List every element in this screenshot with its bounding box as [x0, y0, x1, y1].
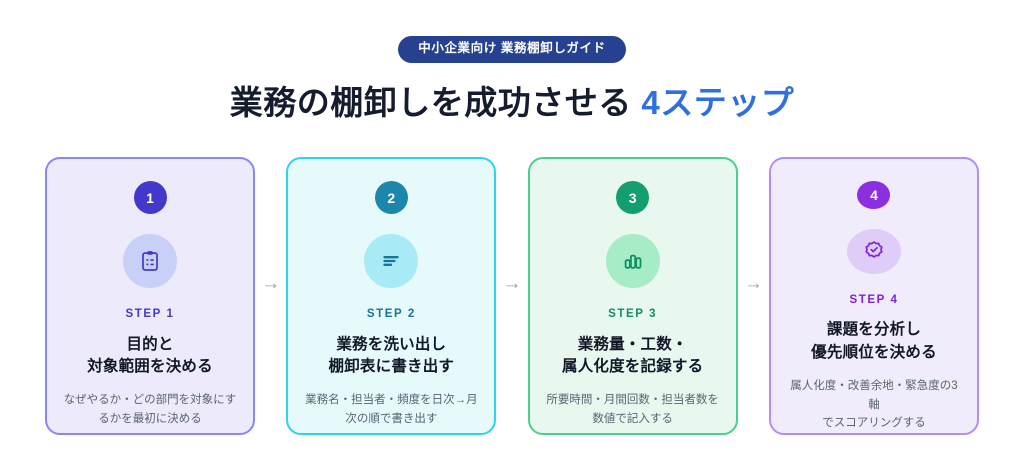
step-title-2-line1: 業務を洗い出し — [329, 334, 455, 356]
step-label-3: STEP 3 — [608, 309, 657, 321]
step-desc-1-line2: るかを最初に決める — [64, 410, 237, 429]
step-title-3-line1: 業務量・工数・ — [562, 334, 703, 356]
step-card-1[interactable]: 1 STEP 1 目的と 対象範囲を決める なぜやるか・どの部門を対象にす るか… — [45, 157, 255, 435]
page-title-accent: 4ステップ — [641, 84, 794, 121]
step-number-badge-2: 2 — [375, 181, 408, 214]
step-number-badge-3: 3 — [616, 181, 649, 214]
connector-arrow-1: → — [255, 157, 286, 435]
step-label-1: STEP 1 — [125, 309, 174, 321]
step-title-1-line2: 対象範囲を決める — [87, 356, 213, 378]
step-desc-4-line2: でスコアリングする — [787, 414, 961, 433]
step-number-badge-4: 4 — [857, 181, 890, 209]
step-card-4[interactable]: 4 STEP 4 課題を分析し 優先順位を決める 属人化度・改善余地・緊急度の3… — [769, 157, 979, 435]
eyebrow-badge: 中小企業向け 業務棚卸しガイド — [398, 36, 625, 63]
step-desc-4: 属人化度・改善余地・緊急度の3軸 でスコアリングする — [771, 377, 977, 433]
step-desc-2: 業務名・担当者・頻度を日次→月 次の順で書き出す — [289, 391, 494, 428]
steps-row: 1 STEP 1 目的と 対象範囲を決める なぜやるか・どの部門を対象にす るか… — [45, 157, 979, 435]
step-title-2-line2: 棚卸表に書き出す — [329, 356, 455, 378]
eyebrow-wrap: 中小企業向け 業務棚卸しガイド — [0, 0, 1024, 63]
step-title-4-line2: 優先順位を決める — [811, 342, 937, 364]
step-title-4: 課題を分析し 優先順位を決める — [811, 319, 937, 364]
step-title-4-line1: 課題を分析し — [811, 319, 937, 341]
step-card-3[interactable]: 3 STEP 3 業務量・工数・ 属人化度を記録する 所要時間・月間回数・担当者… — [528, 157, 738, 435]
step-title-2: 業務を洗い出し 棚卸表に書き出す — [329, 334, 455, 379]
step-label-4: STEP 4 — [849, 295, 898, 307]
connector-arrow-3: → — [738, 157, 769, 435]
step-title-1-line1: 目的と — [87, 334, 213, 356]
clipboard-checklist-icon — [123, 234, 177, 288]
step-title-1: 目的と 対象範囲を決める — [87, 334, 213, 379]
step-desc-3: 所要時間・月間回数・担当者数を 数値で記入する — [530, 391, 735, 428]
bar-chart-icon — [606, 234, 660, 288]
page-title-main: 業務の棚卸しを成功させる — [230, 84, 642, 121]
step-desc-3-line2: 数値で記入する — [546, 410, 719, 429]
step-desc-1: なぜやるか・どの部門を対象にす るかを最初に決める — [48, 391, 253, 428]
step-title-3-line2: 属人化度を記録する — [562, 356, 703, 378]
step-title-3: 業務量・工数・ 属人化度を記録する — [562, 334, 703, 379]
list-lines-icon — [364, 234, 418, 288]
step-desc-2-line2: 次の順で書き出す — [305, 410, 478, 429]
infographic-page: 中小企業向け 業務棚卸しガイド 業務の棚卸しを成功させる 4ステップ 1 STE… — [0, 0, 1024, 467]
page-title: 業務の棚卸しを成功させる 4ステップ — [0, 82, 1024, 123]
step-number-badge-1: 1 — [134, 181, 167, 214]
step-card-2[interactable]: 2 STEP 2 業務を洗い出し 棚卸表に書き出す 業務名・担当者・頻度を日次→… — [286, 157, 496, 435]
step-desc-1-line1: なぜやるか・どの部門を対象にす — [64, 391, 237, 410]
step-desc-3-line1: 所要時間・月間回数・担当者数を — [546, 391, 719, 410]
badge-check-icon — [847, 229, 901, 274]
step-label-2: STEP 2 — [367, 309, 416, 321]
connector-arrow-2: → — [496, 157, 527, 435]
step-desc-4-line1: 属人化度・改善余地・緊急度の3軸 — [787, 377, 961, 414]
step-desc-2-line1: 業務名・担当者・頻度を日次→月 — [305, 391, 478, 410]
